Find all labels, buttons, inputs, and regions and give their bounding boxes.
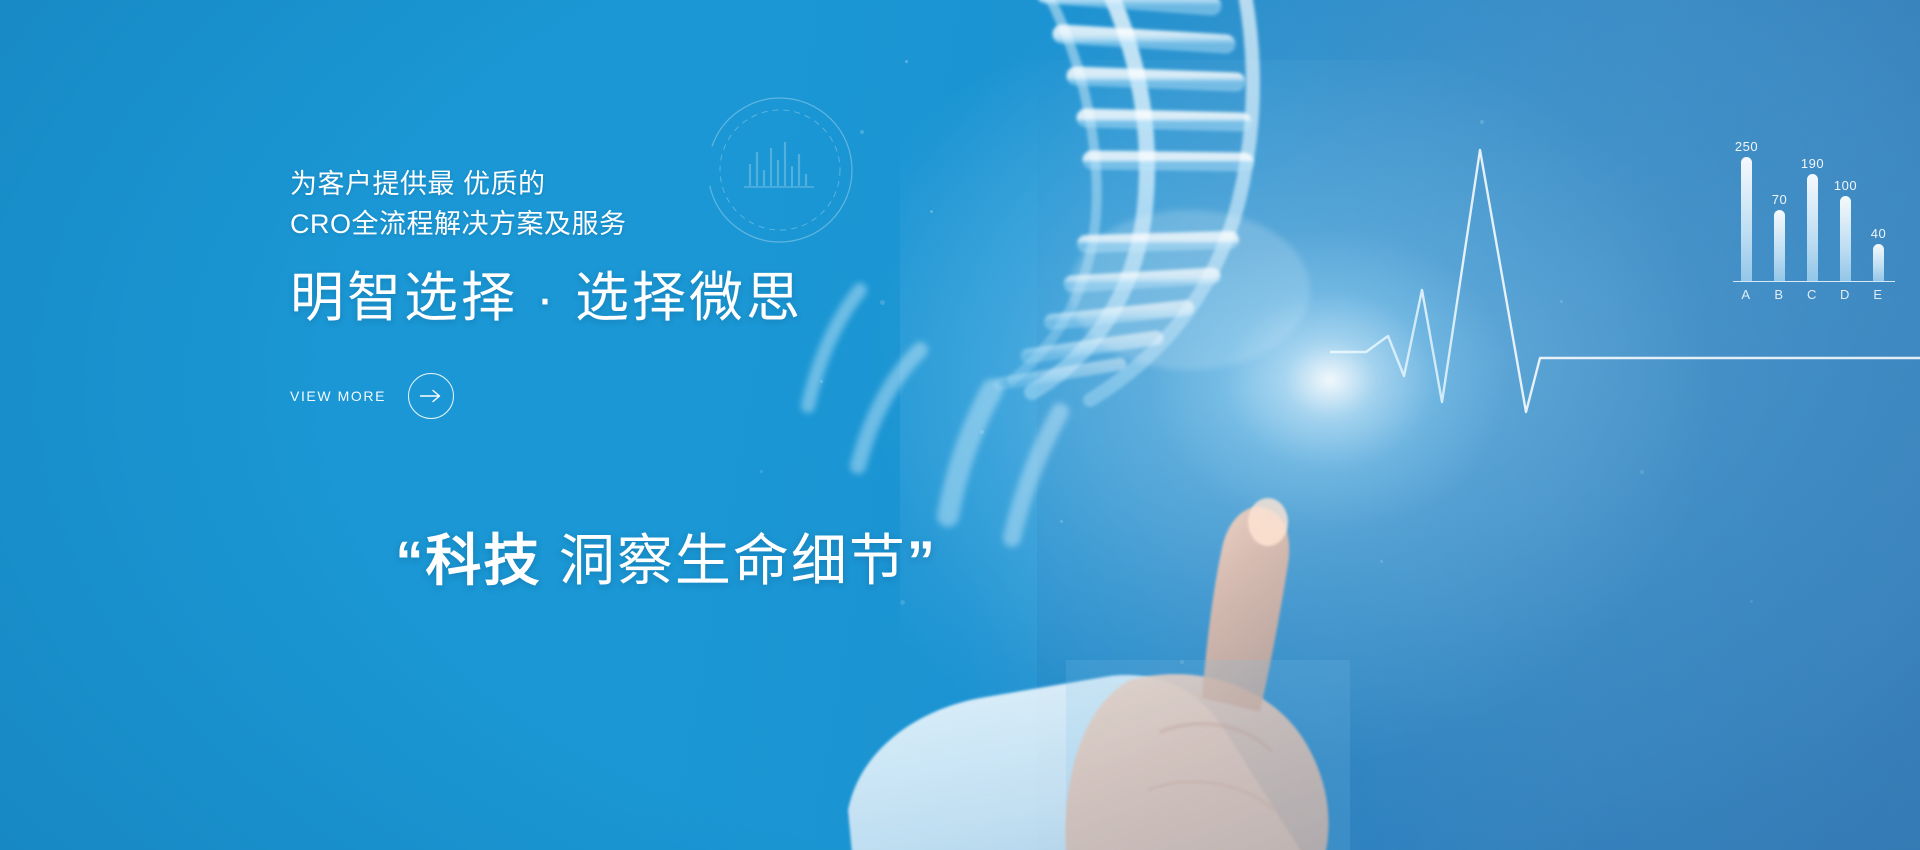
arrow-right-icon[interactable] — [408, 373, 454, 419]
hero-quote: “科技 洞察生命细节” — [290, 469, 1050, 654]
quote-body: 洞察生命细节 — [541, 529, 907, 592]
hero-headline: 明智选择 · 选择微思 — [290, 267, 1050, 331]
view-more-label: VIEW MORE — [290, 388, 386, 404]
quote-open-mark: “ — [395, 529, 425, 592]
quote-close-mark: ” — [907, 529, 937, 592]
view-more-button[interactable]: VIEW MORE — [290, 373, 454, 419]
hero-subtitle-line-1: 为客户提供最 优质的 — [290, 165, 1050, 205]
hero-banner: 250 70 190 100 40 A B C D — [0, 0, 1920, 850]
hero-subtitle: 为客户提供最 优质的 CRO全流程解决方案及服务 — [290, 165, 1050, 245]
hero-subtitle-line-2: CRO全流程解决方案及服务 — [290, 205, 1050, 245]
hero-content: 为客户提供最 优质的 CRO全流程解决方案及服务 明智选择 · 选择微思 VIE… — [290, 165, 1050, 653]
quote-emphasis: 科技 — [425, 529, 541, 592]
